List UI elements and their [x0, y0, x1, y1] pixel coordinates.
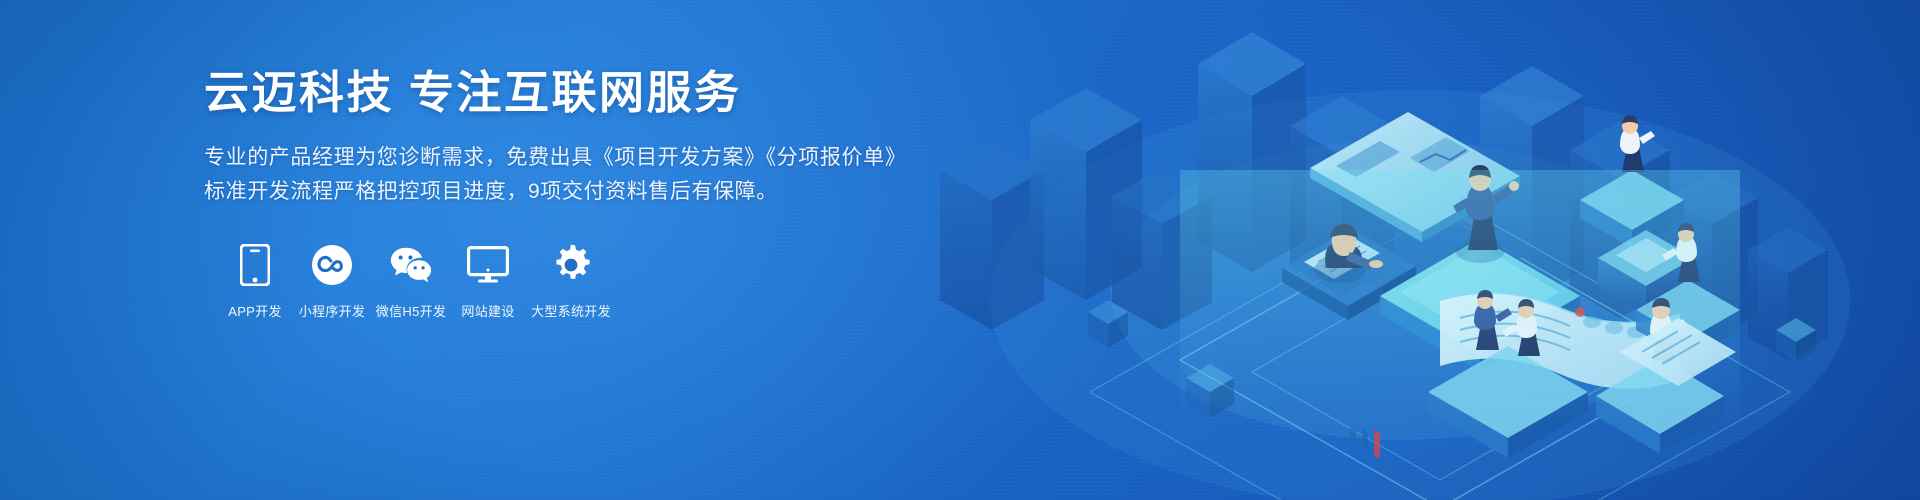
banner-content: 云迈科技 专注互联网服务 专业的产品经理为您诊断需求，免费出具《项目开发方案》《… [204, 66, 924, 320]
mini-program-icon [310, 243, 354, 287]
subtitle-line-1: 专业的产品经理为您诊断需求，免费出具《项目开发方案》《分项报价单》 [204, 141, 924, 175]
subtitle-line-2: 标准开发流程严格把控项目进度，9项交付资料售后有保障。 [204, 175, 924, 209]
hero-illustration [880, 0, 1920, 500]
service-label: APP开发 [228, 301, 282, 320]
page-title: 云迈科技 专注互联网服务 [204, 66, 924, 121]
service-list: APP开发 小程序开发 [218, 243, 924, 320]
hero-banner: 云迈科技 专注互联网服务 专业的产品经理为您诊断需求，免费出具《项目开发方案》《… [0, 0, 1920, 500]
wechat-icon [389, 243, 433, 287]
subtitle-block: 专业的产品经理为您诊断需求，免费出具《项目开发方案》《分项报价单》 标准开发流程… [204, 141, 924, 209]
monitor-icon [466, 243, 510, 287]
service-item-large-system[interactable]: 大型系统开发 [526, 243, 616, 320]
service-item-website[interactable]: 网站建设 [452, 243, 524, 320]
service-label: 微信H5开发 [376, 301, 446, 320]
service-label: 大型系统开发 [531, 301, 611, 320]
service-item-mini-program[interactable]: 小程序开发 [294, 243, 370, 320]
service-label: 网站建设 [461, 301, 514, 320]
service-item-app[interactable]: APP开发 [218, 243, 292, 320]
mobile-phone-icon [233, 243, 277, 287]
service-item-wechat-h5[interactable]: 微信H5开发 [372, 243, 450, 320]
service-label: 小程序开发 [299, 301, 366, 320]
gear-icon [549, 243, 593, 287]
